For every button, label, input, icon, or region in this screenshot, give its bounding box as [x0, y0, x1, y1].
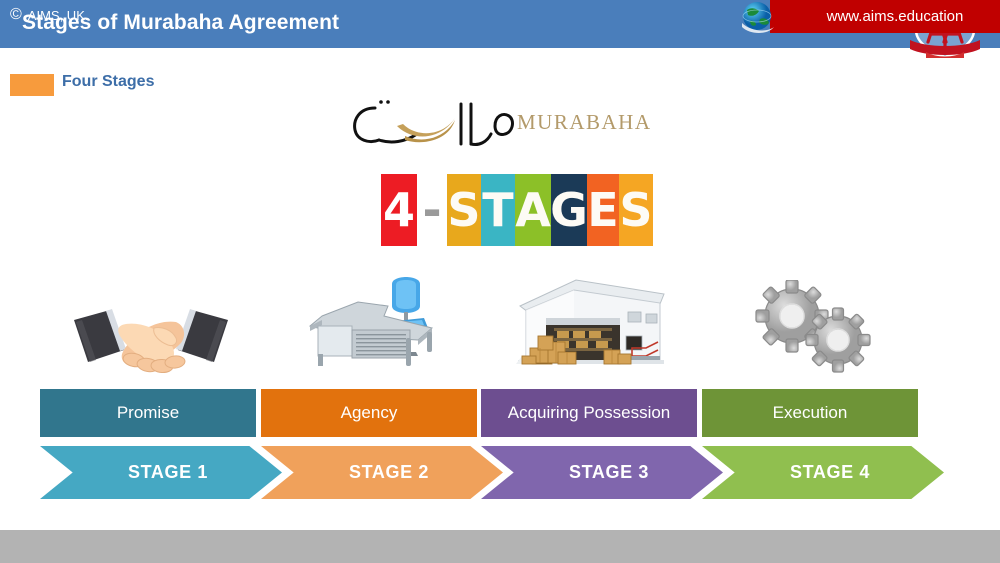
stages-logo-tile-a-4: A — [515, 174, 551, 246]
murabaha-latin-text: MURABAHA — [517, 110, 652, 135]
stage-label-bar: Acquiring Possession — [481, 389, 697, 437]
subtitle-color-swatch — [10, 74, 54, 96]
stages-logo-tile-s-7: S — [619, 174, 653, 246]
stages-logo-tile-dash: - — [417, 174, 447, 246]
stage-arrow-1[interactable]: STAGE 1 — [40, 446, 282, 499]
globe-icon — [738, 0, 778, 37]
stage-label-bar: Agency — [261, 389, 477, 437]
stage-label-text: Agency — [341, 403, 398, 423]
stage-label-bar: Promise — [40, 389, 256, 437]
stage-arrow-text: STAGE 1 — [128, 462, 208, 483]
stages-logo-tile-s-2: S — [447, 174, 481, 246]
stage-arrow-2[interactable]: STAGE 2 — [261, 446, 503, 499]
stage-label-text: Promise — [117, 403, 179, 423]
footer-url-banner[interactable]: www.aims.education — [770, 0, 1000, 33]
stage-label-bar: Execution — [702, 389, 918, 437]
handshake-icon — [62, 292, 240, 386]
footer-copyright-text: AIMS, UK. — [28, 8, 89, 23]
murabaha-arabic-calligraphy — [345, 96, 515, 154]
stage-arrow-text: STAGE 3 — [569, 462, 649, 483]
stage-arrow-4[interactable]: STAGE 4 — [702, 446, 944, 499]
stages-logo-tile-g-5: G — [551, 174, 587, 246]
stage-label-text: Execution — [773, 403, 848, 423]
stage-arrow-text: STAGE 4 — [790, 462, 870, 483]
stages-logo-tile-e-6: E — [587, 174, 619, 246]
four-stages-logo: 4-STAGES — [381, 174, 653, 246]
warehouse-icon — [508, 276, 674, 370]
copyright-icon: © — [10, 7, 22, 23]
gears-icon — [748, 280, 884, 374]
stage-label-text: Acquiring Possession — [508, 403, 671, 423]
footer-url-text: www.aims.education — [807, 8, 964, 25]
murabaha-wordmark: MURABAHA — [345, 96, 655, 154]
footer-copyright: © AIMS, UK. — [10, 7, 88, 23]
footer-bar — [0, 530, 1000, 563]
stage-arrow-3[interactable]: STAGE 3 — [481, 446, 723, 499]
office-desk-icon — [296, 276, 446, 370]
stages-logo-tile-t-3: T — [481, 174, 515, 246]
subtitle-label: Four Stages — [62, 73, 154, 91]
stage-arrow-text: STAGE 2 — [349, 462, 429, 483]
stages-logo-tile-4-0: 4 — [381, 174, 417, 246]
